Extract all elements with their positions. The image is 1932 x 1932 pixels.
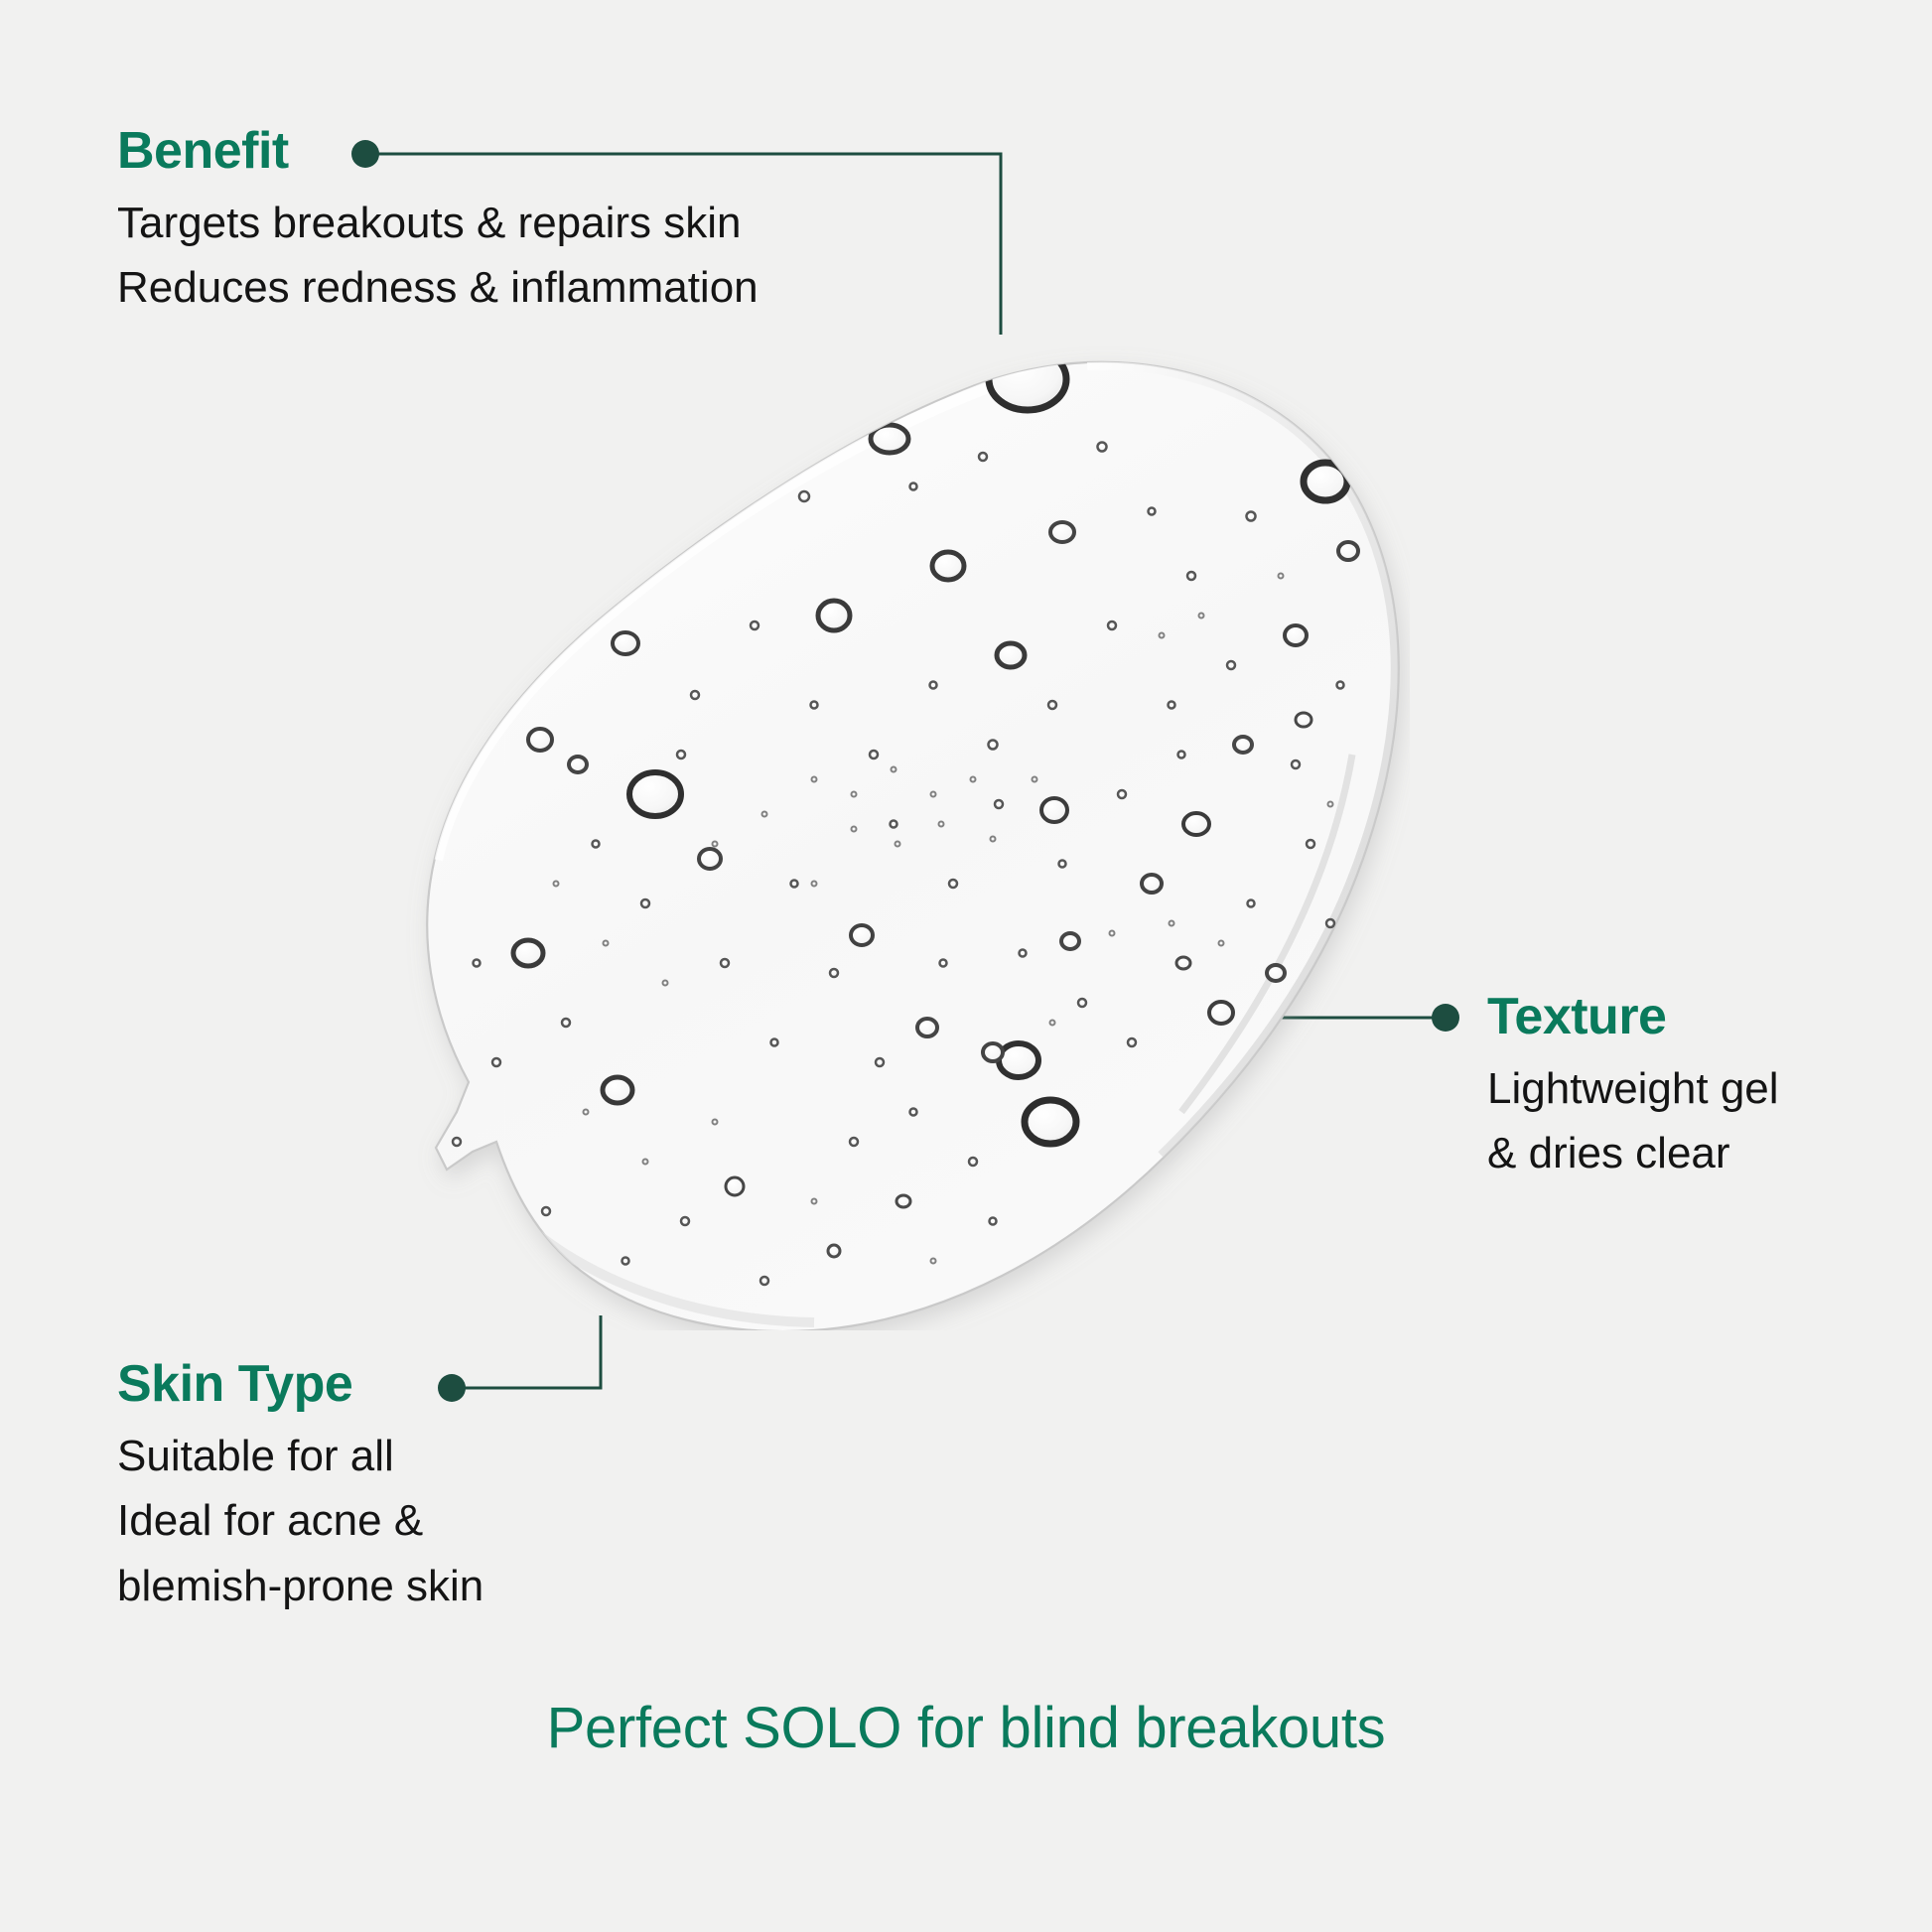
tagline: Perfect SOLO for blind breakouts — [0, 1695, 1932, 1761]
callout-skin-type-body: Suitable for all Ideal for acne & blemis… — [117, 1432, 483, 1610]
callout-skin-type: Skin Type Suitable for all Ideal for acn… — [117, 1358, 483, 1610]
callout-texture-line-2: & dries clear — [1487, 1129, 1779, 1177]
callout-skin-type-title: Skin Type — [117, 1358, 483, 1410]
callout-skin-type-line-3: blemish-prone skin — [117, 1562, 483, 1610]
gel-blob-shape — [427, 362, 1399, 1330]
callout-benefit-line-1: Targets breakouts & repairs skin — [117, 199, 759, 247]
gel-swatch — [298, 328, 1410, 1330]
callout-texture-line-1: Lightweight gel — [1487, 1064, 1779, 1113]
callout-texture: Texture Lightweight gel & dries clear — [1487, 991, 1779, 1178]
callout-benefit-title: Benefit — [117, 125, 759, 177]
callout-texture-body: Lightweight gel & dries clear — [1487, 1064, 1779, 1178]
callout-skin-type-line-2: Ideal for acne & — [117, 1496, 483, 1545]
callout-benefit-body: Targets breakouts & repairs skin Reduces… — [117, 199, 759, 313]
callout-texture-title: Texture — [1487, 991, 1779, 1042]
callout-benefit: Benefit Targets breakouts & repairs skin… — [117, 125, 759, 313]
callout-skin-type-line-1: Suitable for all — [117, 1432, 483, 1480]
callout-benefit-line-2: Reduces redness & inflammation — [117, 263, 759, 312]
infographic-canvas: Benefit Targets breakouts & repairs skin… — [0, 0, 1932, 1932]
